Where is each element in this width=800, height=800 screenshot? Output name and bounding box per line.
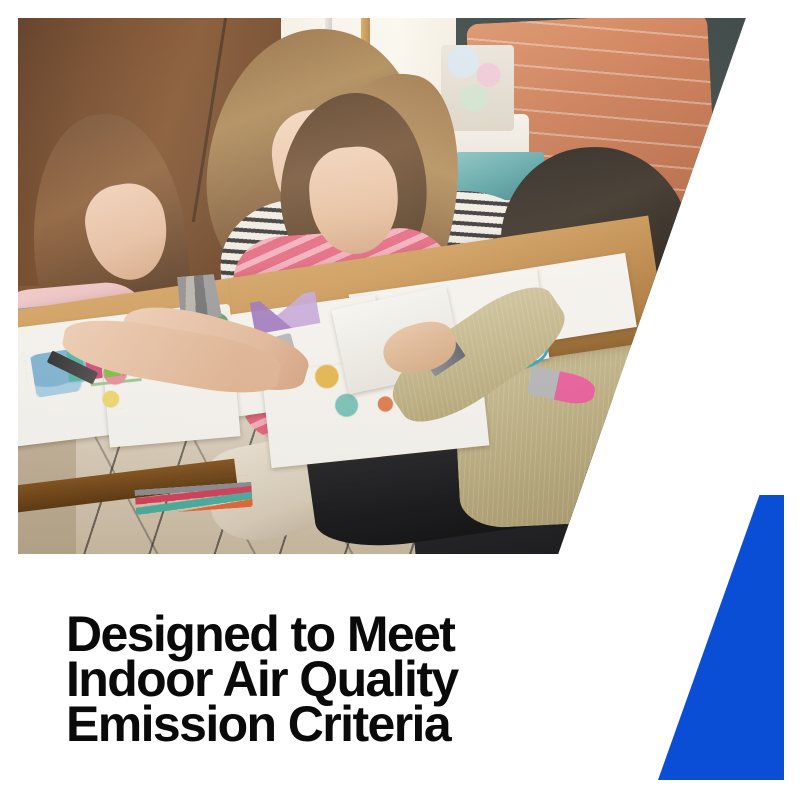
photo-color-grade [18,18,748,554]
page-title: Designed to Meet Indoor Air Quality Emis… [66,612,626,747]
headline-line-3: Emission Criteria [66,702,626,747]
photo-scene [18,18,748,554]
blue-angled-accent-shape [658,495,784,780]
family-crafting-photo [18,18,748,554]
promo-banner: Designed to Meet Indoor Air Quality Emis… [0,0,800,800]
headline-line-2: Indoor Air Quality [66,657,626,702]
headline-line-1: Designed to Meet [66,612,626,657]
